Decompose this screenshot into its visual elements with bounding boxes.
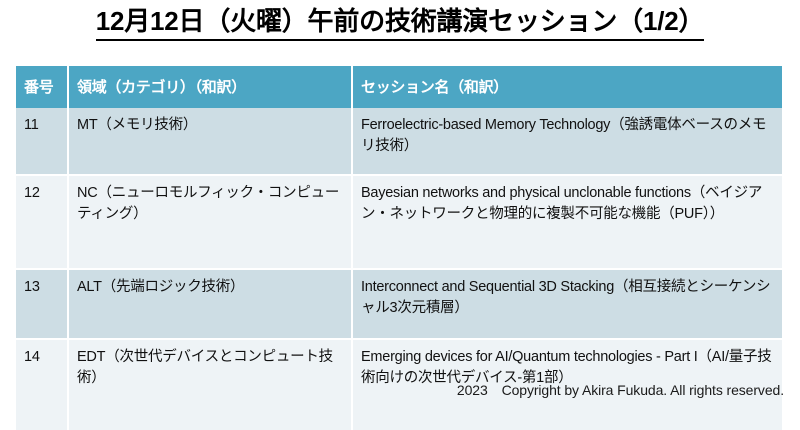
cell-session: Bayesian networks and physical unclonabl…: [352, 175, 782, 269]
cell-area: MT（メモリ技術）: [68, 108, 352, 175]
column-header-number: 番号: [16, 66, 68, 108]
table-header-row: 番号 領域（カテゴリ）（和訳） セッション名（和訳）: [16, 66, 782, 108]
table-header: 番号 領域（カテゴリ）（和訳） セッション名（和訳）: [16, 66, 782, 108]
table-row: 13 ALT（先端ロジック技術） Interconnect and Sequen…: [16, 269, 782, 339]
page-title-container: 12月12日（火曜）午前の技術講演セッション（1/2）: [0, 6, 800, 41]
table-row: 12 NC（ニューロモルフィック・コンピューティング） Bayesian net…: [16, 175, 782, 269]
session-table: 番号 領域（カテゴリ）（和訳） セッション名（和訳） 11 MT（メモリ技術） …: [16, 66, 782, 430]
cell-area: EDT（次世代デバイスとコンピュート技術）: [68, 339, 352, 430]
column-header-session: セッション名（和訳）: [352, 66, 782, 108]
cell-number: 13: [16, 269, 68, 339]
page-title: 12月12日（火曜）午前の技術講演セッション（1/2）: [96, 6, 705, 41]
cell-session: Interconnect and Sequential 3D Stacking（…: [352, 269, 782, 339]
slide-canvas: 12月12日（火曜）午前の技術講演セッション（1/2） 番号 領域（カテゴリ）（…: [0, 0, 800, 412]
table-row: 11 MT（メモリ技術） Ferroelectric-based Memory …: [16, 108, 782, 175]
cell-number: 14: [16, 339, 68, 430]
cell-number: 12: [16, 175, 68, 269]
copyright-footer: 2023 Copyright by Akira Fukuda. All righ…: [457, 380, 784, 400]
cell-area: NC（ニューロモルフィック・コンピューティング）: [68, 175, 352, 269]
cell-number: 11: [16, 108, 68, 175]
cell-session: Ferroelectric-based Memory Technology（強誘…: [352, 108, 782, 175]
cell-area: ALT（先端ロジック技術）: [68, 269, 352, 339]
column-header-area: 領域（カテゴリ）（和訳）: [68, 66, 352, 108]
